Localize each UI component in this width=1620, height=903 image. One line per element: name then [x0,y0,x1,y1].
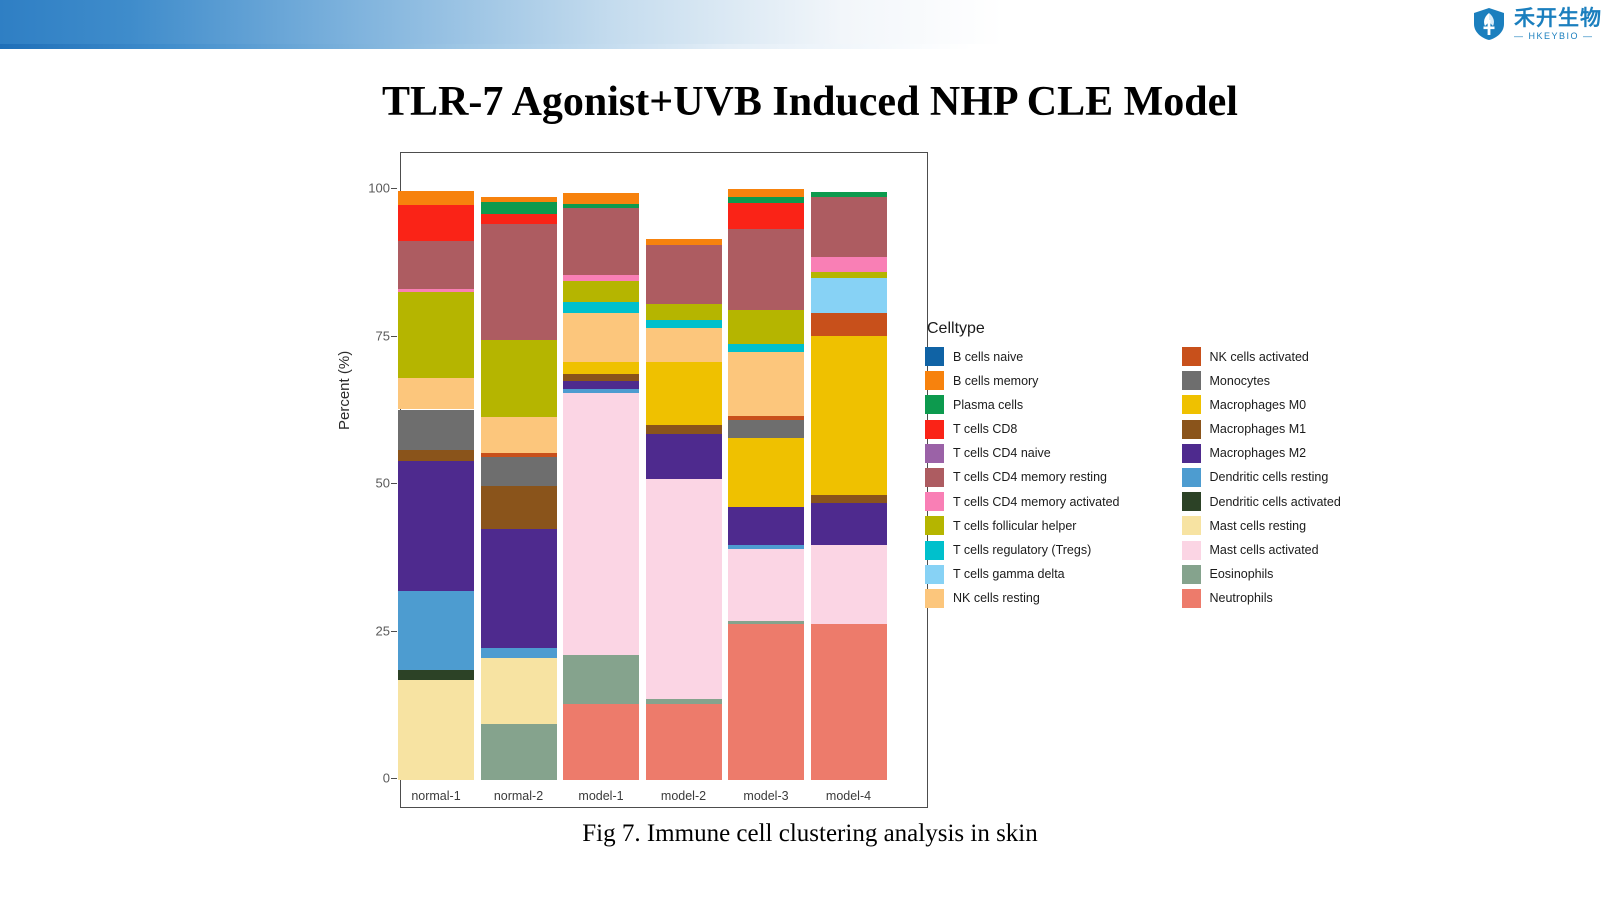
bar-segment[interactable] [728,197,804,203]
bar-segment[interactable] [398,680,474,780]
bar-segment[interactable] [398,241,474,288]
legend-item[interactable]: Macrophages M2 [1182,444,1341,463]
y-tick-label: 25 [338,623,390,638]
legend-swatch-icon [925,347,944,366]
legend-swatch-icon [925,395,944,414]
bar-segment[interactable] [728,545,804,549]
bar-segment[interactable] [481,486,557,529]
legend-item[interactable]: T cells gamma delta [925,565,1120,584]
legend-item[interactable]: NK cells activated [1182,347,1341,366]
legend-columns: B cells naiveB cells memoryPlasma cellsT… [925,347,1325,608]
legend-label: T cells CD4 memory activated [953,495,1120,509]
bar-segment[interactable] [811,313,887,336]
bar-segment[interactable] [646,479,722,700]
legend-item[interactable]: Macrophages M1 [1182,420,1341,439]
bar-segment[interactable] [563,704,639,780]
bar-segment[interactable] [811,272,887,278]
bar-segment[interactable] [728,344,804,352]
legend-swatch-icon [1182,516,1201,535]
bar-segment[interactable] [398,378,474,410]
bar-column[interactable] [481,190,557,780]
legend-swatch-icon [925,420,944,439]
logo-text-cn: 禾开生物 [1514,8,1602,29]
figure-caption: Fig 7. Immune cell clustering analysis i… [0,820,1620,848]
bar-segment[interactable] [646,362,722,426]
legend-label: Macrophages M2 [1210,446,1307,460]
bar-segment[interactable] [563,193,639,204]
bar-segment[interactable] [728,352,804,416]
bar-segment[interactable] [811,503,887,545]
brand-logo: 禾开生物 — HKEYBIO — [1472,3,1602,45]
bar-segment[interactable] [728,621,804,624]
legend-item[interactable]: Eosinophils [1182,565,1341,584]
legend-title: Celltype [925,320,1325,338]
legend-label: Macrophages M1 [1210,422,1307,436]
legend-swatch-icon [925,371,944,390]
legend-label: Dendritic cells resting [1210,470,1329,484]
bar-segment[interactable] [563,381,639,389]
legend-label: Neutrophils [1210,591,1273,605]
bar-segment[interactable] [646,704,722,780]
legend-swatch-icon [1182,347,1201,366]
bar-segment[interactable] [398,191,474,206]
bar-segment[interactable] [563,313,639,361]
legend-swatch-icon [925,541,944,560]
bar-segment[interactable] [728,416,804,420]
legend-label: Mast cells activated [1210,543,1319,557]
legend-item[interactable]: Monocytes [1182,371,1341,390]
bar-segment[interactable] [728,549,804,621]
legend-label: NK cells activated [1210,350,1309,364]
bar-segment[interactable] [646,328,722,362]
bar-segment[interactable] [728,507,804,545]
bar-segment[interactable] [563,389,639,393]
bar-segment[interactable] [811,257,887,272]
legend-swatch-icon [925,444,944,463]
legend-swatch-icon [925,589,944,608]
legend-item[interactable]: T cells regulatory (Tregs) [925,541,1120,560]
legend-item[interactable]: T cells follicular helper [925,516,1120,535]
legend-swatch-icon [925,565,944,584]
legend-column-1: B cells naiveB cells memoryPlasma cellsT… [925,347,1120,608]
legend-item[interactable]: B cells memory [925,371,1120,390]
bar-segment[interactable] [728,229,804,310]
legend-item[interactable]: T cells CD8 [925,420,1120,439]
bar-segment[interactable] [728,203,804,229]
legend-label: T cells gamma delta [953,567,1065,581]
bar-segment[interactable] [811,495,887,503]
legend-item[interactable]: T cells CD4 memory resting [925,468,1120,487]
legend-swatch-icon [1182,395,1201,414]
legend-label: Mast cells resting [1210,519,1307,533]
y-tick-label: 50 [338,476,390,491]
bar-segment[interactable] [481,724,557,780]
bar-segment[interactable] [563,204,639,208]
bar-segment[interactable] [481,648,557,657]
bar-segment[interactable] [481,529,557,649]
bar-segment[interactable] [481,457,557,485]
legend-label: B cells naive [953,350,1023,364]
bar-segment[interactable] [398,292,474,378]
legend-swatch-icon [1182,371,1201,390]
bar-segment[interactable] [481,202,557,213]
legend-item[interactable]: B cells naive [925,347,1120,366]
legend-swatch-icon [1182,541,1201,560]
bar-segment[interactable] [481,417,557,454]
bar-segment[interactable] [646,239,722,245]
bar-segment[interactable] [563,281,639,302]
bar-segment[interactable] [481,224,557,340]
top-banner [0,0,1620,48]
legend-item[interactable]: T cells CD4 memory activated [925,492,1120,511]
legend-item[interactable]: Plasma cells [925,395,1120,414]
bar-segment[interactable] [481,340,557,417]
legend-label: Macrophages M0 [1210,398,1307,412]
page-title: TLR-7 Agonist+UVB Induced NHP CLE Model [0,78,1620,126]
y-axis-ticks: 0255075100 [330,0,390,903]
legend-item[interactable]: Mast cells activated [1182,541,1341,560]
bar-segment[interactable] [646,434,722,479]
bar-segment[interactable] [398,461,474,590]
bar-segment[interactable] [563,655,639,705]
logo-text-en: — HKEYBIO — [1514,32,1602,41]
bar-segment[interactable] [481,197,557,203]
legend-label: Eosinophils [1210,567,1274,581]
bar-segment[interactable] [646,304,722,320]
legend-item[interactable]: Macrophages M0 [1182,395,1341,414]
bar-segment[interactable] [728,438,804,507]
bar-segment[interactable] [811,545,887,623]
legend-swatch-icon [925,492,944,511]
bar-segment[interactable] [398,670,474,680]
bar-segment[interactable] [811,197,887,258]
bar-segment[interactable] [563,393,639,655]
bar-segment[interactable] [728,189,804,197]
bar-segment[interactable] [398,450,474,461]
bar-column[interactable] [398,190,474,780]
y-tick-label: 75 [338,328,390,343]
bar-segment[interactable] [646,425,722,433]
bar-segment[interactable] [563,302,639,314]
bar-segment[interactable] [398,205,474,241]
bar-segment[interactable] [728,624,804,780]
legend-item[interactable]: Dendritic cells activated [1182,492,1341,511]
bar-segment[interactable] [563,208,639,275]
legend-swatch-icon [1182,589,1201,608]
legend-swatch-icon [925,516,944,535]
legend-label: B cells memory [953,374,1038,388]
legend-label: T cells CD4 naive [953,446,1051,460]
legend-item[interactable]: Dendritic cells resting [1182,468,1341,487]
legend-item[interactable]: T cells CD4 naive [925,444,1120,463]
bar-segment[interactable] [481,214,557,225]
banner-underline [0,44,1620,49]
bar-segment[interactable] [481,658,557,724]
stacked-bar-chart [390,180,910,780]
legend-item[interactable]: Mast cells resting [1182,516,1341,535]
y-tick-label: 100 [338,181,390,196]
bar-column[interactable] [811,190,887,780]
bar-segment[interactable] [563,374,639,382]
legend-swatch-icon [1182,492,1201,511]
bar-segment[interactable] [811,336,887,495]
bar-column[interactable] [728,190,804,780]
bar-segment[interactable] [563,362,639,374]
legend-label: T cells regulatory (Tregs) [953,543,1091,557]
legend-swatch-icon [925,468,944,487]
legend-label: Plasma cells [953,398,1023,412]
legend-label: T cells follicular helper [953,519,1076,533]
legend-label: NK cells resting [953,591,1040,605]
bar-segment[interactable] [811,624,887,780]
legend-swatch-icon [1182,565,1201,584]
bar-segment[interactable] [811,278,887,313]
bar-segment[interactable] [398,289,474,293]
bar-column[interactable] [646,190,722,780]
legend-label: Monocytes [1210,374,1270,388]
bar-segment[interactable] [811,192,887,196]
bar-segment[interactable] [481,453,557,457]
legend-item[interactable]: Neutrophils [1182,589,1341,608]
bar-segment[interactable] [398,591,474,670]
bar-column[interactable] [563,190,639,780]
chart-legend: Celltype B cells naiveB cells memoryPlas… [925,320,1325,608]
shield-leaf-logo-icon [1472,7,1506,41]
bar-segment[interactable] [398,410,474,451]
legend-label: Dendritic cells activated [1210,495,1341,509]
bar-segment[interactable] [646,320,722,328]
legend-swatch-icon [1182,468,1201,487]
legend-column-2: NK cells activatedMonocytesMacrophages M… [1182,347,1341,608]
legend-item[interactable]: NK cells resting [925,589,1120,608]
legend-swatch-icon [1182,420,1201,439]
x-tick-label: model-4 [799,789,899,803]
legend-label: T cells CD8 [953,422,1017,436]
bar-segment[interactable] [728,420,804,438]
bar-segment[interactable] [728,310,804,344]
bar-segment[interactable] [646,245,722,305]
legend-swatch-icon [1182,444,1201,463]
bar-segment[interactable] [563,275,639,281]
legend-label: T cells CD4 memory resting [953,470,1107,484]
bar-segment[interactable] [646,699,722,704]
y-tick-label: 0 [338,771,390,786]
